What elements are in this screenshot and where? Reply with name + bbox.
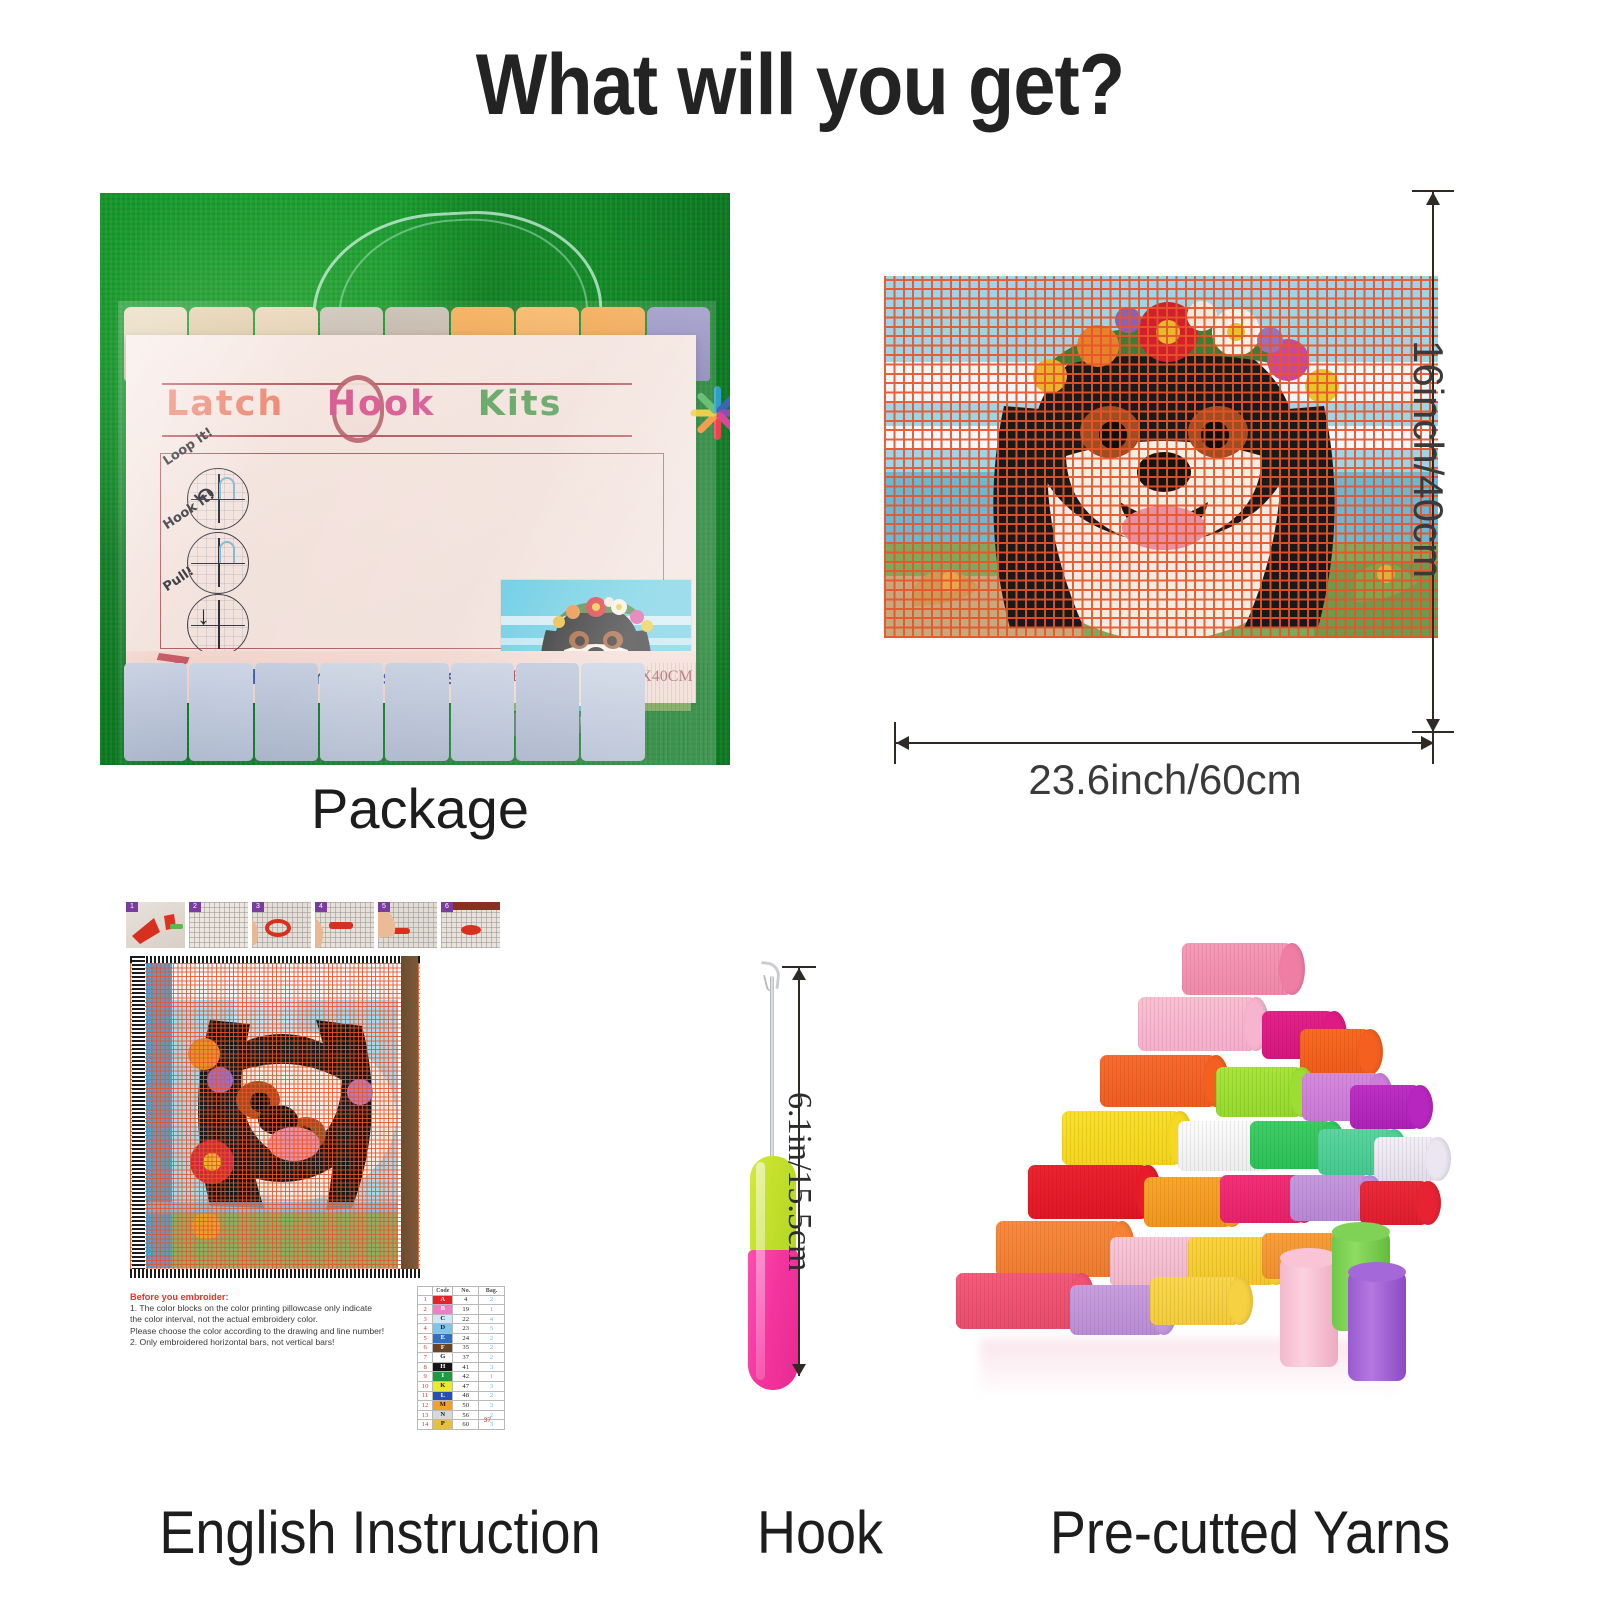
legend-row-code: K [433, 1381, 453, 1391]
legend-row-no: 4 [453, 1295, 479, 1305]
yarn-bundle [1374, 1137, 1438, 1181]
legend-row-no: 50 [453, 1401, 479, 1411]
legend-row: 8H413 [418, 1362, 505, 1372]
legend-row-index: 1 [418, 1295, 433, 1305]
caption-pre-cutted-yarns: Pre-cutted Yarns [962, 1498, 1538, 1567]
legend-color-swatch: B [433, 1305, 452, 1314]
step-photo-1: 1 [126, 902, 185, 948]
legend-color-swatch: D [433, 1324, 452, 1333]
chart-ruler-right [401, 956, 418, 1278]
legend-header-bag: Bag. [479, 1287, 505, 1296]
legend-row-code: I [433, 1372, 453, 1382]
before-note-line: the color interval, not the actual embro… [130, 1314, 398, 1325]
legend-color-swatch: F [433, 1344, 452, 1353]
mesh-canvas [884, 276, 1438, 638]
legend-row-no: 19 [453, 1305, 479, 1315]
yarn-bundle [996, 1221, 1122, 1277]
yarn-bundle [1138, 997, 1256, 1051]
legend-row-index: 8 [418, 1362, 433, 1372]
legend-row: 1A42 [418, 1295, 505, 1305]
package-photo: Latch Hook Kits [100, 193, 730, 765]
yarn-bundle [1028, 1165, 1148, 1219]
before-note-line: 1. The color blocks on the color printin… [130, 1303, 398, 1314]
hook-needle-shaft [770, 976, 774, 1166]
legend-row: 9I421 [418, 1372, 505, 1382]
yarn-bundle [1290, 1175, 1370, 1221]
legend-row-bag: 4 [479, 1314, 505, 1324]
mesh-grid-overlay [884, 276, 1438, 638]
legend-row-code: H [433, 1362, 453, 1372]
legend-row-index: 10 [418, 1381, 433, 1391]
chart-ruler-bottom [130, 1269, 420, 1278]
before-note-line: Please choose the color according to the… [130, 1326, 398, 1337]
color-legend-table: Code No. Bag. 1A422B1913C2244D2355E2426F… [417, 1286, 505, 1430]
legend-row-no: 23 [453, 1324, 479, 1334]
yarn-bundle [1216, 1067, 1302, 1117]
yarn-bundle [956, 1273, 1082, 1329]
yarn-bundle [1100, 1055, 1216, 1107]
legend-row-bag: 2 [479, 1343, 505, 1353]
step-photo-number: 1 [126, 902, 138, 912]
legend-row: 4D235 [418, 1324, 505, 1334]
legend-row-bag: 2 [479, 1333, 505, 1343]
step-photo-3: 3 [252, 902, 311, 948]
legend-row-code: B [433, 1305, 453, 1315]
canvas-width-label: 23.6inch/60cm [896, 756, 1434, 804]
page-title: What will you get? [96, 36, 1504, 135]
yarn-bundle [1300, 1029, 1370, 1075]
legend-row-code: F [433, 1343, 453, 1353]
legend-row-no: 41 [453, 1362, 479, 1372]
yarn-bundle [1144, 1177, 1232, 1227]
yarn-cylinder [1280, 1257, 1338, 1367]
width-dimension-arrow [896, 742, 1434, 744]
legend-row-code: C [433, 1314, 453, 1324]
hook-length-label: 6.1in/15.5cm [780, 1092, 818, 1271]
legend-row: 11L482 [418, 1391, 505, 1401]
pre-cutted-yarns-photo [950, 925, 1460, 1395]
legend-header-row: Code No. Bag. [418, 1287, 505, 1296]
legend-row: 6F352 [418, 1343, 505, 1353]
legend-row-no: 48 [453, 1391, 479, 1401]
legend-color-swatch: A [433, 1296, 452, 1305]
caption-package: Package [100, 776, 740, 841]
legend-row-bag: 1 [479, 1372, 505, 1382]
legend-row-index: 11 [418, 1391, 433, 1401]
legend-row-bag: 2 [479, 1353, 505, 1363]
caption-english-instruction: English Instruction [92, 1498, 668, 1567]
legend-color-swatch: L [433, 1392, 452, 1401]
legend-row-index: 12 [418, 1401, 433, 1411]
yarn-bundle [1182, 943, 1292, 995]
legend-row-index: 9 [418, 1372, 433, 1382]
legend-row-no: 22 [453, 1314, 479, 1324]
legend-row-bag: 2 [479, 1391, 505, 1401]
legend-row: 5E242 [418, 1333, 505, 1343]
legend-row-bag: 1 [479, 1305, 505, 1315]
yarn-bundle [1062, 1111, 1180, 1165]
legend-row: 10K473 [418, 1381, 505, 1391]
legend-row: 12M503 [418, 1401, 505, 1411]
legend-total: 37 [417, 1416, 505, 1424]
instruction-step-photos: 1 2 3 4 5 6 [126, 902, 500, 948]
legend-color-swatch: C [433, 1315, 452, 1324]
legend-color-swatch: E [433, 1334, 452, 1343]
pattern-chart [130, 956, 420, 1278]
legend-row: 2B191 [418, 1305, 505, 1315]
legend-row-code: L [433, 1391, 453, 1401]
yarn-bundles-bottom-row [124, 663, 710, 761]
legend-color-swatch: H [433, 1363, 452, 1372]
legend-header-index [418, 1287, 433, 1296]
step-photo-2: 2 [189, 902, 248, 948]
yarn-bundle [1350, 1085, 1420, 1129]
legend-color-swatch: G [433, 1353, 452, 1362]
canvas-height-label: 16inch/40cm [1404, 340, 1452, 578]
legend-row: 3C224 [418, 1314, 505, 1324]
legend-color-swatch: K [433, 1382, 452, 1391]
legend-row-index: 4 [418, 1324, 433, 1334]
legend-row-bag: 2 [479, 1295, 505, 1305]
legend-header-code: Code [433, 1287, 453, 1296]
legend-row-no: 42 [453, 1372, 479, 1382]
chart-ruler-top [130, 956, 420, 963]
legend-row-no: 37 [453, 1353, 479, 1363]
pattern-chart-grid [130, 956, 420, 1278]
plastic-sheen-overlay [126, 335, 696, 703]
yarn-cylinder [1348, 1271, 1406, 1381]
step-photo-number: 5 [378, 902, 390, 912]
step-photo-4: 4 [315, 902, 374, 948]
yarn-bundle [1360, 1181, 1428, 1225]
infographic-root: What will you get? Latch Hook [0, 0, 1600, 1600]
legend-row-bag: 3 [479, 1401, 505, 1411]
legend-row-index: 5 [418, 1333, 433, 1343]
step-photo-number: 3 [252, 902, 264, 912]
hook-handle-gloss [756, 1162, 765, 1380]
legend-row-no: 24 [453, 1333, 479, 1343]
legend-row-index: 2 [418, 1305, 433, 1315]
before-you-embroider-note: Before you embroider: 1. The color block… [130, 1292, 398, 1349]
yarn-bundle [1150, 1277, 1240, 1325]
legend-row-index: 6 [418, 1343, 433, 1353]
legend-row-bag: 5 [479, 1324, 505, 1334]
legend-row-bag: 3 [479, 1381, 505, 1391]
legend-row: 7G372 [418, 1353, 505, 1363]
legend-row-code: G [433, 1353, 453, 1363]
legend-row-code: A [433, 1295, 453, 1305]
legend-row-bag: 3 [479, 1362, 505, 1372]
legend-header-no: No. [453, 1287, 479, 1296]
legend-row-index: 3 [418, 1314, 433, 1324]
step-photo-number: 4 [315, 902, 327, 912]
legend-row-code: E [433, 1333, 453, 1343]
chart-ruler-left [132, 956, 145, 1278]
step-photo-5: 5 [378, 902, 437, 948]
step-photo-number: 6 [441, 902, 453, 912]
before-note-title: Before you embroider: [130, 1292, 398, 1302]
package-label: Latch Hook Kits [126, 335, 696, 703]
step-photo-number: 2 [189, 902, 201, 912]
legend-row-no: 47 [453, 1381, 479, 1391]
legend-row-code: D [433, 1324, 453, 1334]
legend-color-swatch: M [433, 1401, 452, 1410]
legend-row-index: 7 [418, 1353, 433, 1363]
caption-hook: Hook [676, 1498, 964, 1567]
legend-color-swatch: I [433, 1372, 452, 1381]
legend-row-no: 35 [453, 1343, 479, 1353]
step-photo-6: 6 [441, 902, 500, 948]
legend-row-code: M [433, 1401, 453, 1411]
instruction-sheet: 1 2 3 4 5 6 [126, 902, 516, 1482]
before-note-line: 2. Only embroidered horizontal bars, not… [130, 1337, 398, 1348]
